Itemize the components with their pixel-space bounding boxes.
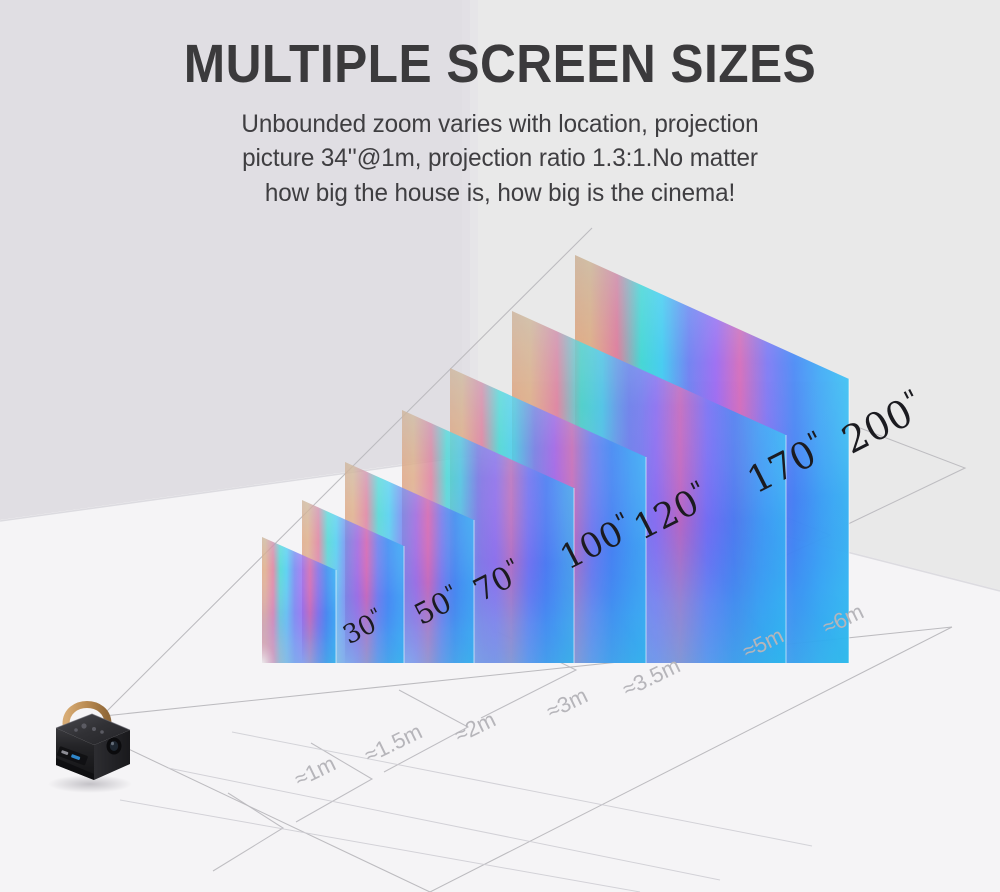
screens-layer bbox=[0, 0, 1000, 892]
projection-scene: 30" 50" 70" 100" 120" 170" 200" ≈1m ≈1.5… bbox=[0, 0, 1000, 892]
lens-highlight bbox=[111, 742, 114, 746]
portable-cube-projector bbox=[40, 688, 138, 794]
lens-glass bbox=[110, 741, 118, 751]
